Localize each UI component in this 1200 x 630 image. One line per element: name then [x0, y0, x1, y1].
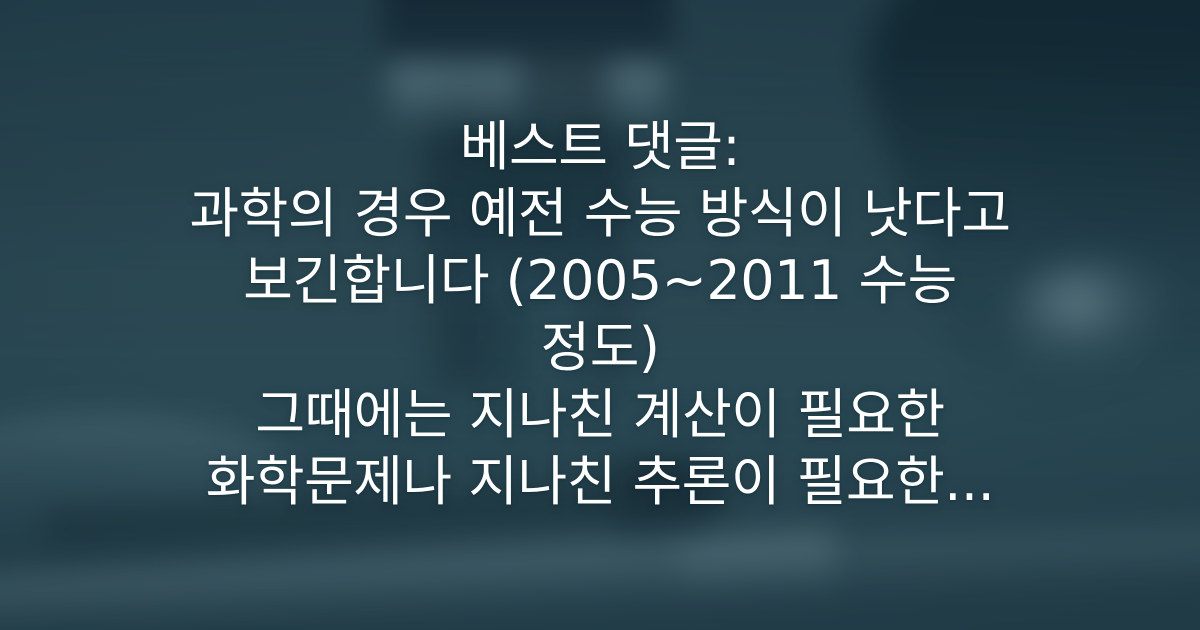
- headline-line-4: 정도): [28, 315, 1172, 382]
- headline-line-2: 과학의 경우 예전 수능 방식이 낫다고: [28, 181, 1172, 248]
- headline-line-1: 베스트 댓글:: [28, 114, 1172, 181]
- headline-text: 베스트 댓글: 과학의 경우 예전 수능 방식이 낫다고 보긴합니다 (2005…: [28, 114, 1172, 516]
- headline-line-3: 보긴합니다 (2005~2011 수능: [28, 248, 1172, 315]
- headline-line-5: 그때에는 지나친 계산이 필요한: [28, 382, 1172, 449]
- share-card: 베스트 댓글: 과학의 경우 예전 수능 방식이 낫다고 보긴합니다 (2005…: [0, 0, 1200, 630]
- headline-container: 베스트 댓글: 과학의 경우 예전 수능 방식이 낫다고 보긴합니다 (2005…: [0, 0, 1200, 630]
- headline-line-6: 화학문제나 지나친 추론이 필요한...: [28, 449, 1172, 516]
